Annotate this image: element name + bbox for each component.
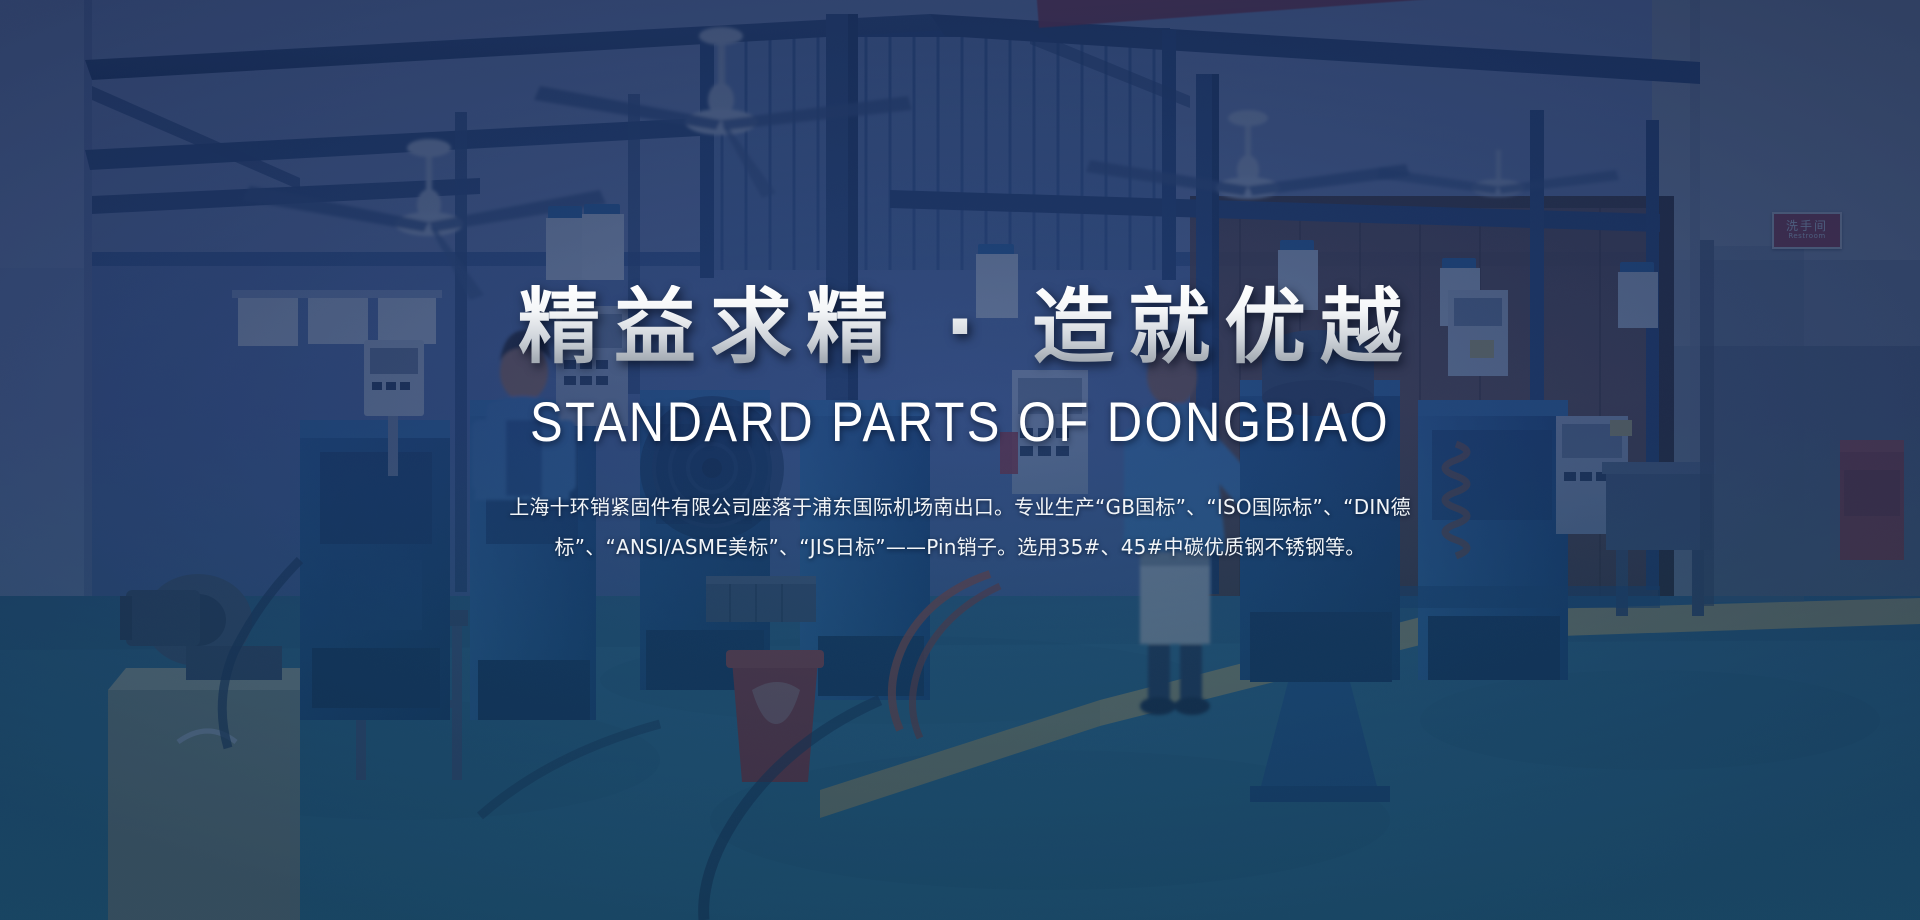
factory-scene-illustration bbox=[0, 0, 1920, 920]
factory-photo-background bbox=[0, 0, 1920, 920]
hero-banner: 人物害 洗手间 Restroom 精益求精 · 造就优越 STANDARD PA… bbox=[0, 0, 1920, 920]
